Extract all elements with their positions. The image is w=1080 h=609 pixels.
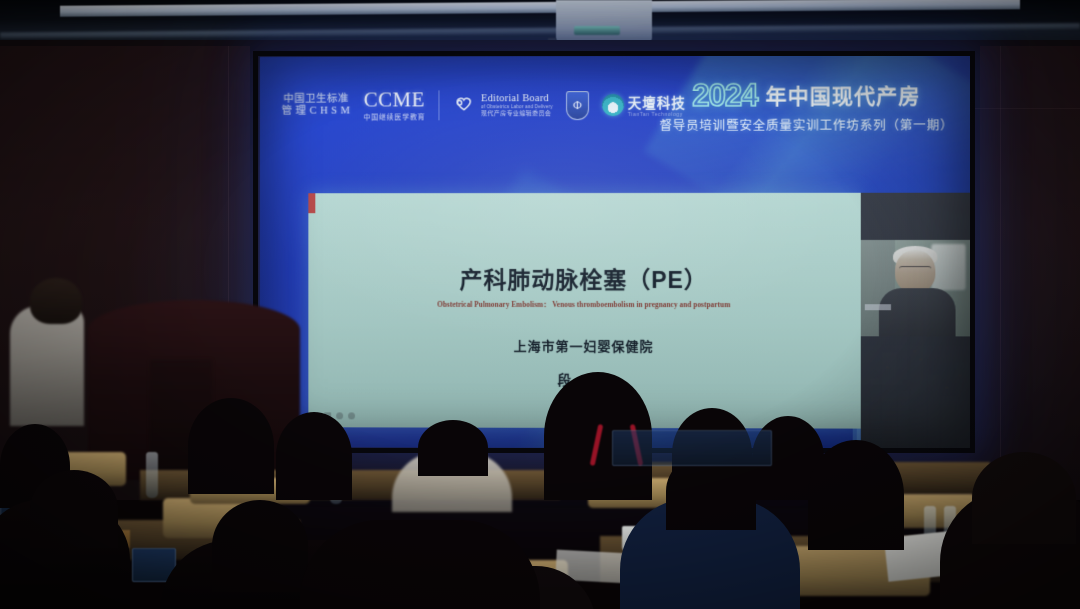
slide-title: 产科肺动脉栓塞（PE） [308, 261, 860, 295]
logo-divider [438, 90, 439, 120]
event-name: 年中国现代产房 [765, 80, 920, 110]
conference-room-photo: 中国卫生标准 管 理 C H S M CCME 中国继续医学教育 Editori… [0, 0, 1080, 609]
slide-presenter-name: 段 涛 [308, 369, 860, 390]
slide-subtitle-english: Obstetrical Pulmonary Embolism： Venous t… [308, 300, 860, 310]
shield-emblem-logo: Φ [566, 91, 589, 120]
front-row-person-left [0, 500, 130, 609]
slide-organization: 上海市第一妇婴保健院 [308, 336, 860, 356]
wall-seam-horizontal [968, 108, 1080, 109]
wall-panel-right [980, 46, 1080, 476]
snack-plate [96, 530, 130, 548]
wall-seam-left [228, 46, 229, 476]
editorial-board-text: Editorial Board of Obstetrics Labor and … [481, 93, 553, 117]
audience-table-row-front-right [600, 536, 1020, 582]
water-bottle-4 [924, 506, 936, 552]
ccme-logo-subtitle: 中国继续医学教育 [363, 112, 425, 122]
projection-screen: 中国卫生标准 管 理 C H S M CCME 中国继续医学教育 Editori… [260, 55, 972, 449]
chair-back-7 [388, 560, 568, 608]
printed-handout [884, 530, 962, 581]
event-year: 2024 [692, 80, 757, 111]
printed-handout-2 [555, 550, 648, 585]
speaker-torso [879, 288, 956, 336]
event-title-block: 2024 年中国现代产房 督导员培训暨安全质量实训工作坊系列（第一期） [659, 79, 953, 134]
ceiling-projector [556, 0, 652, 42]
ccme-logo: CCME 中国继续医学教育 [363, 89, 425, 122]
video-overlay-label [865, 304, 891, 310]
shield-emblem-glyph: Φ [573, 98, 582, 113]
editorial-board-line1: Editorial Board [481, 93, 553, 105]
ceiling-light-strip [60, 0, 1020, 17]
laptop-2 [132, 548, 176, 582]
ceiling-light-strip-secondary [0, 23, 1080, 38]
event-title-line1: 2024 年中国现代产房 [659, 79, 953, 111]
remote-speaker-video-panel [861, 193, 972, 449]
front-row-head-left-2 [212, 500, 308, 592]
ccme-logo-wordmark: CCME [363, 89, 425, 110]
water-bottle-5 [944, 506, 956, 552]
annotate-pen-icon[interactable] [336, 412, 343, 419]
front-row-person-left-2 [160, 540, 400, 609]
remote-speaker-video-tile [861, 240, 972, 336]
slideshow-play-icon[interactable] [324, 412, 331, 419]
chsm-logo-line2: 管 理 C H S M [282, 106, 351, 118]
audience-table-row-front-left [0, 520, 300, 560]
chair-back-6 [700, 546, 930, 596]
chsm-logo: 中国卫生标准 管 理 C H S M [282, 94, 351, 118]
slide-menu-icon[interactable] [348, 412, 355, 419]
sponsor-logo-row: 中国卫生标准 管 理 C H S M CCME 中国继续医学教育 Editori… [282, 82, 686, 129]
editorial-board-line2: of Obstetrics Labor and Delivery [481, 105, 553, 110]
event-subtitle: 督导员培训暨安全质量实训工作坊系列（第一期） [659, 114, 953, 134]
chsm-logo-line1: 中国卫生标准 [282, 94, 351, 106]
speaker-glasses [899, 266, 931, 273]
paper-cup [622, 526, 644, 552]
slide-control-bar[interactable] [324, 412, 355, 419]
front-row-person-center-2 [300, 520, 540, 609]
slide-corner-tab [308, 193, 315, 213]
front-row-person-right [940, 488, 1080, 609]
projector-lens [574, 26, 620, 35]
chair-back-2 [163, 498, 259, 538]
editorial-board-line3: 现代产房专业编辑委员会 [481, 111, 553, 118]
wall-panel-left [0, 46, 250, 476]
editorial-board-logo: Editorial Board of Obstetrics Labor and … [452, 93, 553, 117]
front-row-person-blue-shirt [620, 498, 800, 609]
wall-seam-right [1000, 46, 1001, 476]
front-row-person-center [396, 566, 596, 609]
water-bottle-3 [650, 512, 662, 558]
tiantan-arch-icon [602, 94, 624, 116]
presentation-slide: 产科肺动脉栓塞（PE） Obstetrical Pulmonary Emboli… [308, 193, 860, 429]
video-background-door [931, 244, 965, 290]
heart-swirl-icon [452, 93, 476, 117]
